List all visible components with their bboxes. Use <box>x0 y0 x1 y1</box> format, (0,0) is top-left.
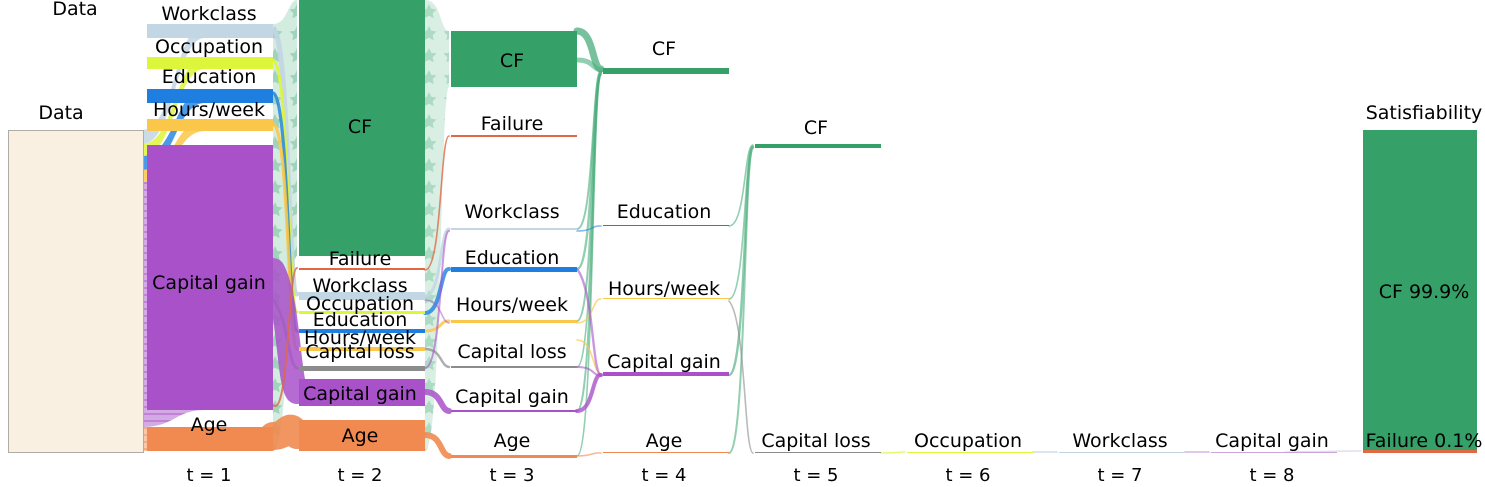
node-label-t1-hours-week: Hours/week <box>153 101 265 120</box>
node-label-t3-cf: CF <box>500 52 524 71</box>
node-label-t1-capital-gain: Capital gain <box>152 274 266 293</box>
node-t8-capital-gain[interactable] <box>1211 452 1337 453</box>
node-label-t3-hours-week: Hours/week <box>456 296 568 315</box>
node-label-t2-capital-loss: Capital loss <box>305 343 414 362</box>
node-label-t5-cf: CF <box>804 119 828 138</box>
node-label-t1-occupation: Occupation <box>155 38 263 57</box>
node-label-t4-age: Age <box>646 432 683 451</box>
node-label-t2-failure: Failure <box>329 250 392 269</box>
node-t5-capital-loss[interactable] <box>755 452 881 453</box>
node-label-sink-failure-0-1: Failure 0.1% <box>1366 432 1483 451</box>
node-label-t2-capital-gain: Capital gain <box>303 385 417 404</box>
node-label-t4-cf: CF <box>652 40 676 59</box>
axis-tick-3: t = 3 <box>489 465 534 486</box>
node-label-t1-age: Age <box>191 416 228 435</box>
node-t5-cf[interactable] <box>755 144 881 148</box>
node-label-t3-capital-gain: Capital gain <box>455 388 569 407</box>
flow-t4-to-t5 <box>729 145 753 453</box>
node-label-t3-workclass: Workclass <box>464 203 559 222</box>
node-label-t4-hours-week: Hours/week <box>608 280 720 299</box>
node-label-sink-cf-99-9: CF 99.9% <box>1379 283 1470 302</box>
node-label-t2-cf: CF <box>348 118 372 137</box>
flow-t2-to-t3-cf <box>425 0 449 451</box>
flow-t3-to-t4 <box>577 31 601 456</box>
column-title-data: Data <box>38 104 83 123</box>
node-t2-capital-loss[interactable] <box>299 366 425 371</box>
node-t6-occupation[interactable] <box>907 452 1033 453</box>
node-t3-capital-gain[interactable] <box>451 410 577 412</box>
axis-tick-8: t = 8 <box>1249 465 1294 486</box>
node-t3-workclass[interactable] <box>451 228 577 230</box>
axis-tick-1: t = 1 <box>186 465 231 486</box>
node-label-t3-failure: Failure <box>481 115 544 134</box>
node-t3-failure[interactable] <box>451 135 577 137</box>
node-label-t2-age: Age <box>342 427 379 446</box>
axis-tick-7: t = 7 <box>1097 465 1142 486</box>
node-t3-hours-week[interactable] <box>451 320 577 323</box>
node-label-t3-education: Education <box>465 249 560 268</box>
node-label-t6-occupation: Occupation <box>914 432 1022 451</box>
node-label-t3-age: Age <box>494 432 531 451</box>
node-t3-age[interactable] <box>451 455 577 458</box>
node-label-t1-workclass: Workclass <box>161 5 256 24</box>
node-label-t1-education: Education <box>162 68 257 87</box>
node-label-t5-capital-loss: Capital loss <box>761 432 870 451</box>
node-source-data[interactable] <box>8 130 144 453</box>
node-label-t8-capital-gain: Capital gain <box>1215 432 1329 451</box>
axis-tick-5: t = 5 <box>793 465 838 486</box>
node-label-t4-capital-gain: Capital gain <box>607 353 721 372</box>
sankey-figure: DataDataWorkclassOccupationEducationHour… <box>0 0 1485 487</box>
node-label-source-data: Data <box>52 0 97 19</box>
node-t3-capital-loss[interactable] <box>451 366 577 368</box>
axis-tick-4: t = 4 <box>641 465 686 486</box>
node-t4-cf[interactable] <box>603 68 729 74</box>
node-label-t4-education: Education <box>617 203 712 222</box>
column-title-satisfiability: Satisfiability <box>1366 104 1483 123</box>
node-t7-workclass[interactable] <box>1059 452 1185 453</box>
node-label-t7-workclass: Workclass <box>1072 432 1167 451</box>
node-t4-age[interactable] <box>603 452 729 453</box>
axis-tick-2: t = 2 <box>337 465 382 486</box>
node-label-t3-capital-loss: Capital loss <box>457 343 566 362</box>
axis-tick-6: t = 6 <box>945 465 990 486</box>
node-t4-education[interactable] <box>603 225 729 226</box>
